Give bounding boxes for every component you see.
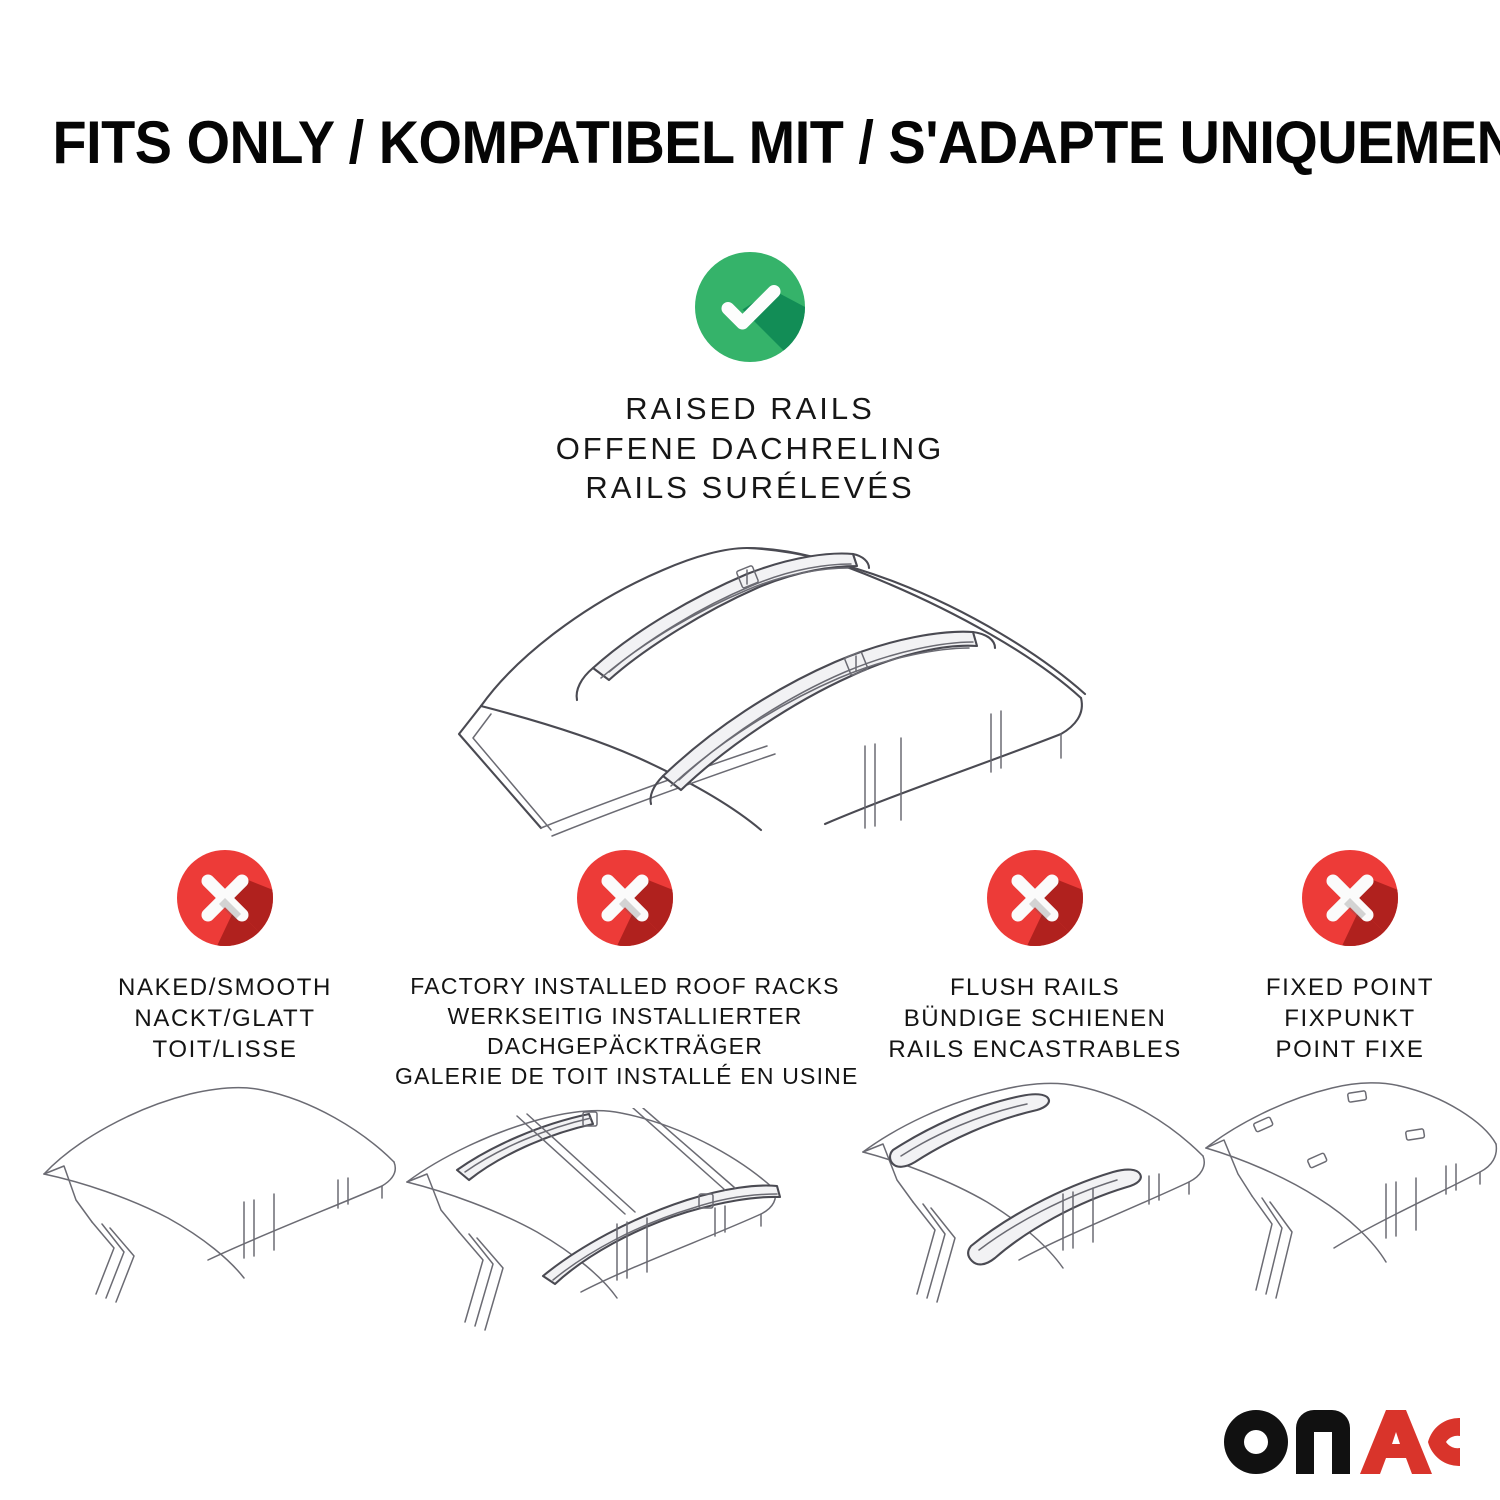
logo-letter-m	[1296, 1410, 1350, 1474]
compatible-label-fr: RAILS SURÉLEVÉS	[0, 468, 1500, 508]
x-circle-icon	[177, 850, 273, 946]
omac-logo	[1220, 1406, 1460, 1478]
car-roof-raised-rails-illustration	[395, 508, 1135, 838]
car-roof-fixed-point-illustration	[1200, 1082, 1500, 1312]
check-circle-icon	[695, 252, 805, 362]
incompatible-row: NAKED/SMOOTH NACKT/GLATT TOIT/LISSE	[0, 850, 1500, 1490]
x-circle-icon	[577, 850, 673, 946]
incompatible-item-factory-roof-racks: FACTORY INSTALLED ROOF RACKS WERKSEITIG …	[395, 850, 855, 1338]
label-en: FACTORY INSTALLED ROOF RACKS	[395, 972, 855, 1002]
label-en: NAKED/SMOOTH	[30, 972, 420, 1003]
x-circle-icon	[987, 850, 1083, 946]
label-en: FIXED POINT	[1200, 972, 1500, 1003]
label-de: FIXPUNKT	[1200, 1003, 1500, 1034]
incompatible-item-naked-smooth: NAKED/SMOOTH NACKT/GLATT TOIT/LISSE	[30, 850, 420, 1312]
logo-letter-a	[1360, 1410, 1432, 1474]
incompatible-labels: FACTORY INSTALLED ROOF RACKS WERKSEITIG …	[395, 972, 855, 1092]
car-roof-flush-rails-illustration	[855, 1082, 1215, 1312]
x-circle-icon	[1302, 850, 1398, 946]
incompatible-item-flush-rails: FLUSH RAILS BÜNDIGE SCHIENEN RAILS ENCAS…	[855, 850, 1215, 1312]
car-roof-factory-racks-illustration	[395, 1108, 855, 1338]
incompatible-item-fixed-point: FIXED POINT FIXPUNKT POINT FIXE	[1200, 850, 1500, 1312]
label-de: NACKT/GLATT	[30, 1003, 420, 1034]
compatible-block: RAISED RAILS OFFENE DACHRELING RAILS SUR…	[0, 252, 1500, 508]
label-de-2: DACHGEPÄCKTRÄGER	[395, 1032, 855, 1062]
logo-letter-c	[1428, 1418, 1460, 1466]
logo-letter-o	[1224, 1410, 1288, 1474]
car-roof-naked-illustration	[30, 1082, 420, 1312]
incompatible-labels: FLUSH RAILS BÜNDIGE SCHIENEN RAILS ENCAS…	[855, 972, 1215, 1066]
page-title: FITS ONLY / KOMPATIBEL MIT / S'ADAPTE UN…	[53, 108, 1448, 177]
label-de-1: WERKSEITIG INSTALLIERTER	[395, 1002, 855, 1032]
compatibility-infographic: FITS ONLY / KOMPATIBEL MIT / S'ADAPTE UN…	[0, 0, 1500, 1500]
label-fr: GALERIE DE TOIT INSTALLÉ EN USINE	[395, 1062, 855, 1092]
compatible-label-de: OFFENE DACHRELING	[0, 429, 1500, 469]
compatible-label-en: RAISED RAILS	[0, 389, 1500, 429]
label-fr: POINT FIXE	[1200, 1034, 1500, 1065]
label-fr: RAILS ENCASTRABLES	[855, 1034, 1215, 1065]
label-fr: TOIT/LISSE	[30, 1034, 420, 1065]
incompatible-labels: NAKED/SMOOTH NACKT/GLATT TOIT/LISSE	[30, 972, 420, 1066]
compatible-labels: RAISED RAILS OFFENE DACHRELING RAILS SUR…	[0, 389, 1500, 508]
label-en: FLUSH RAILS	[855, 972, 1215, 1003]
incompatible-labels: FIXED POINT FIXPUNKT POINT FIXE	[1200, 972, 1500, 1066]
label-de: BÜNDIGE SCHIENEN	[855, 1003, 1215, 1034]
